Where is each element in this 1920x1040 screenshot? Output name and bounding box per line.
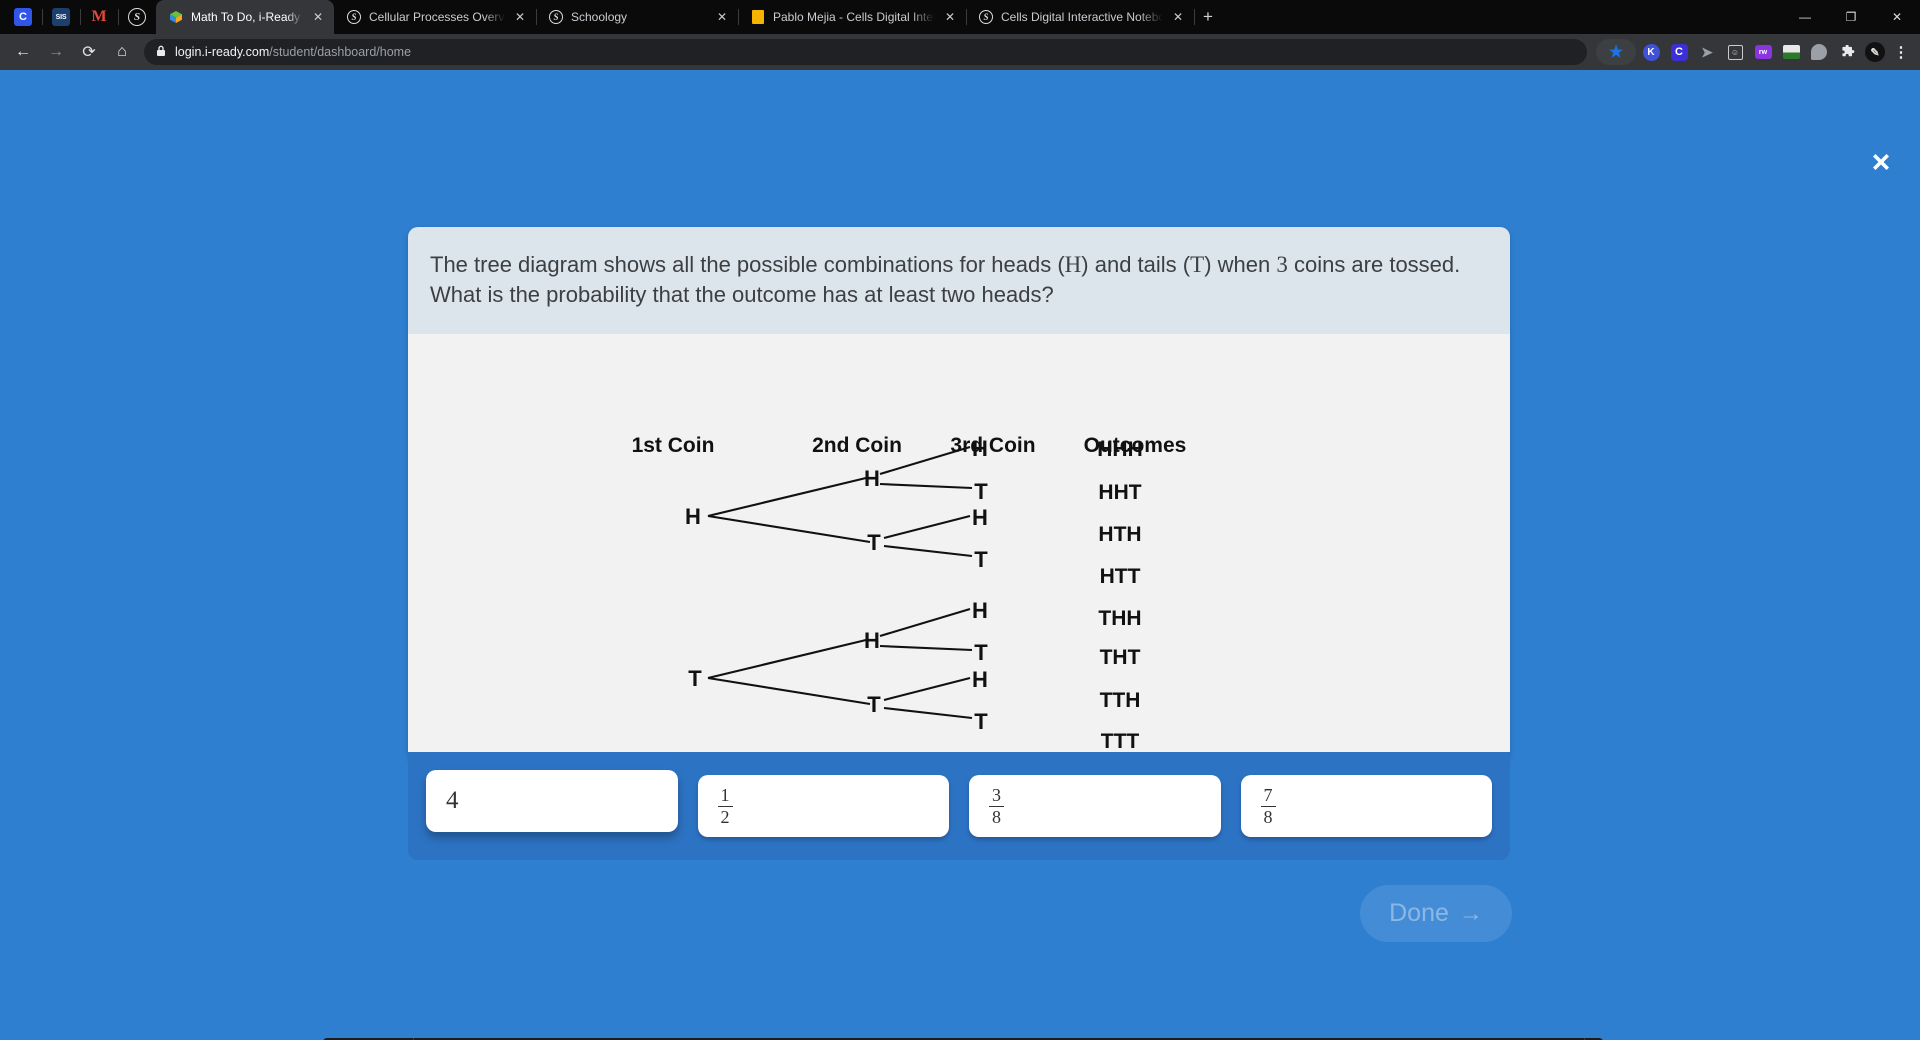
tab-pablo-mejia[interactable]: Pablo Mejia - Cells Digital Interac ✕ <box>738 0 966 34</box>
slides-icon <box>750 9 766 25</box>
rocket-extension-icon[interactable]: ➤ <box>1694 39 1720 65</box>
gmail-icon: M <box>90 8 108 26</box>
fraction-numerator: 1 <box>718 785 733 805</box>
iready-icon <box>168 9 184 25</box>
screenshot-extension-icon[interactable]: ☺ <box>1722 39 1748 65</box>
reload-icon[interactable]: ⟳ <box>74 37 104 67</box>
pinned-tab-sis[interactable]: SIS <box>42 0 80 34</box>
answer-option-1[interactable]: 4 <box>426 770 678 832</box>
fraction-numerator: 3 <box>989 785 1004 805</box>
arrow-right-icon: → <box>1459 900 1483 928</box>
tree-diagram: 1st Coin 2nd Coin 3rd Coin Outcomes <box>408 334 1510 762</box>
sis-icon: SIS <box>52 8 70 26</box>
tab-title: Schoology <box>571 10 707 24</box>
browser-window: C SIS M S Math To Do, i-Ready ✕ S Cellul… <box>0 0 1920 1040</box>
fraction-denominator: 8 <box>989 806 1004 827</box>
node-3rd-8: T <box>974 709 988 734</box>
outcome-4: HTT <box>1100 565 1141 588</box>
tab-title: Math To Do, i-Ready <box>191 10 303 24</box>
answer-fraction: 7 8 <box>1261 785 1276 826</box>
answer-fraction: 1 2 <box>718 785 733 826</box>
node-2nd-h-1: H <box>864 466 880 491</box>
schoology-icon: S <box>548 9 564 25</box>
outcome-2: HHT <box>1098 481 1141 504</box>
done-button[interactable]: Done → <box>1360 885 1512 942</box>
window-controls: — ❐ ✕ <box>1782 0 1920 34</box>
image-extension-icon[interactable] <box>1778 39 1804 65</box>
tab-close-icon[interactable]: ✕ <box>942 10 958 24</box>
back-icon[interactable]: ← <box>8 37 38 67</box>
header-2nd-coin: 2nd Coin <box>812 434 902 457</box>
done-label: Done <box>1389 899 1449 928</box>
fraction-numerator: 7 <box>1261 785 1276 805</box>
gray-balloon-extension-icon[interactable] <box>1806 39 1832 65</box>
node-2nd-t-1: T <box>867 530 881 555</box>
puzzle-extensions-icon[interactable] <box>1834 39 1860 65</box>
tab-cellular-processes[interactable]: S Cellular Processes Overview.pptx ✕ <box>334 0 536 34</box>
tab-close-icon[interactable]: ✕ <box>714 10 730 24</box>
tab-title: Cells Digital Interactive Notebook <box>1001 10 1163 24</box>
node-3rd-5: H <box>972 598 988 623</box>
browser-toolbar: ← → ⟳ ⌂ login.i-ready.com/student/dashbo… <box>0 34 1920 70</box>
outcome-7: TTH <box>1100 689 1141 712</box>
tree-node-labels: H T H T H T H T H T H T H T <box>685 436 988 734</box>
answer-value: 4 <box>446 787 459 815</box>
tab-close-icon[interactable]: ✕ <box>512 10 528 24</box>
answer-fraction: 3 8 <box>989 785 1004 826</box>
tab-title: Cellular Processes Overview.pptx <box>369 10 505 24</box>
node-3rd-2: T <box>974 479 988 504</box>
extensions-area: ★ K C ➤ ☺ rw ✎ ⋮ <box>1596 39 1912 65</box>
answer-options: 4 1 2 3 8 7 8 <box>408 752 1510 860</box>
tab-strip: C SIS M S Math To Do, i-Ready ✕ S Cellul… <box>0 0 1920 34</box>
forward-icon[interactable]: → <box>41 37 71 67</box>
node-3rd-6: T <box>974 640 988 665</box>
iready-lesson-page: The tree diagram shows all the possible … <box>0 70 1920 1040</box>
coin-count: 3 <box>1276 252 1288 277</box>
schoology-icon: S <box>346 9 362 25</box>
question-part-3: ) when <box>1204 252 1276 277</box>
schoology-icon: S <box>128 8 146 26</box>
tab-math-to-do[interactable]: Math To Do, i-Ready ✕ <box>156 0 334 34</box>
tree-branches <box>708 447 972 718</box>
node-1st-t: T <box>688 666 702 691</box>
address-bar[interactable]: login.i-ready.com/student/dashboard/home <box>144 39 1587 65</box>
new-tab-button[interactable]: + <box>1194 0 1222 34</box>
tab-title: Pablo Mejia - Cells Digital Interac <box>773 10 935 24</box>
pinned-tab-gmail[interactable]: M <box>80 0 118 34</box>
answer-option-3[interactable]: 3 8 <box>969 775 1221 837</box>
pinned-tab-schoology[interactable]: S <box>118 0 156 34</box>
lock-icon <box>156 45 166 60</box>
tab-close-icon[interactable]: ✕ <box>1170 10 1186 24</box>
answer-option-2[interactable]: 1 2 <box>698 775 950 837</box>
pinned-tab-canvas[interactable]: C <box>4 0 42 34</box>
question-text: The tree diagram shows all the possible … <box>430 249 1488 310</box>
tab-cells-notebook[interactable]: S Cells Digital Interactive Notebook ✕ <box>966 0 1194 34</box>
schoology-icon: S <box>978 9 994 25</box>
node-2nd-h-2: H <box>864 628 880 653</box>
heads-symbol: H <box>1065 252 1082 277</box>
question-part-1: The tree diagram shows all the possible … <box>430 252 1065 277</box>
canvas-icon: C <box>14 8 32 26</box>
node-1st-h: H <box>685 504 701 529</box>
clever-extension-icon[interactable]: C <box>1666 39 1692 65</box>
question-part-2: ) and tails ( <box>1081 252 1190 277</box>
question-card: The tree diagram shows all the possible … <box>408 227 1510 762</box>
node-3rd-3: H <box>972 505 988 530</box>
node-3rd-1: H <box>972 436 988 461</box>
answer-option-4[interactable]: 7 8 <box>1241 775 1493 837</box>
tab-schoology[interactable]: S Schoology ✕ <box>536 0 738 34</box>
question-header: The tree diagram shows all the possible … <box>408 227 1510 334</box>
browser-menu-icon[interactable]: ⋮ <box>1890 39 1912 65</box>
outcome-labels: HHH HHT HTH HTT THH THT TTH TTT <box>1097 438 1143 753</box>
header-3rd-coin: 3rd Coin <box>950 434 1035 457</box>
fraction-denominator: 8 <box>1261 806 1276 827</box>
tab-close-icon[interactable]: ✕ <box>310 10 326 24</box>
minimize-button[interactable]: — <box>1782 0 1828 34</box>
close-lesson-icon[interactable] <box>1864 146 1898 180</box>
home-icon[interactable]: ⌂ <box>107 37 137 67</box>
kami-extension-icon[interactable]: K <box>1638 39 1664 65</box>
header-1st-coin: 1st Coin <box>632 434 715 457</box>
node-2nd-t-2: T <box>867 692 881 717</box>
node-3rd-4: T <box>974 547 988 572</box>
tree-diagram-svg: 1st Coin 2nd Coin 3rd Coin Outcomes <box>408 334 1510 762</box>
tails-symbol: T <box>1190 252 1204 277</box>
pinned-tabs: C SIS M S <box>4 0 156 34</box>
maximize-button[interactable]: ❐ <box>1828 0 1874 34</box>
address-host: login.i-ready.com <box>175 45 269 59</box>
outcome-3: HTH <box>1098 523 1141 546</box>
purple-extension-icon[interactable]: rw <box>1750 39 1776 65</box>
bookmark-star-icon[interactable]: ★ <box>1596 39 1636 65</box>
dark-extension-icon[interactable]: ✎ <box>1862 39 1888 65</box>
outcome-1: HHH <box>1097 438 1143 461</box>
fraction-denominator: 2 <box>718 806 733 827</box>
address-path: /student/dashboard/home <box>269 45 411 59</box>
node-3rd-7: H <box>972 667 988 692</box>
outcome-5: THH <box>1098 607 1141 630</box>
outcome-6: THT <box>1100 646 1141 669</box>
close-window-button[interactable]: ✕ <box>1874 0 1920 34</box>
outcome-8: TTT <box>1101 730 1140 753</box>
